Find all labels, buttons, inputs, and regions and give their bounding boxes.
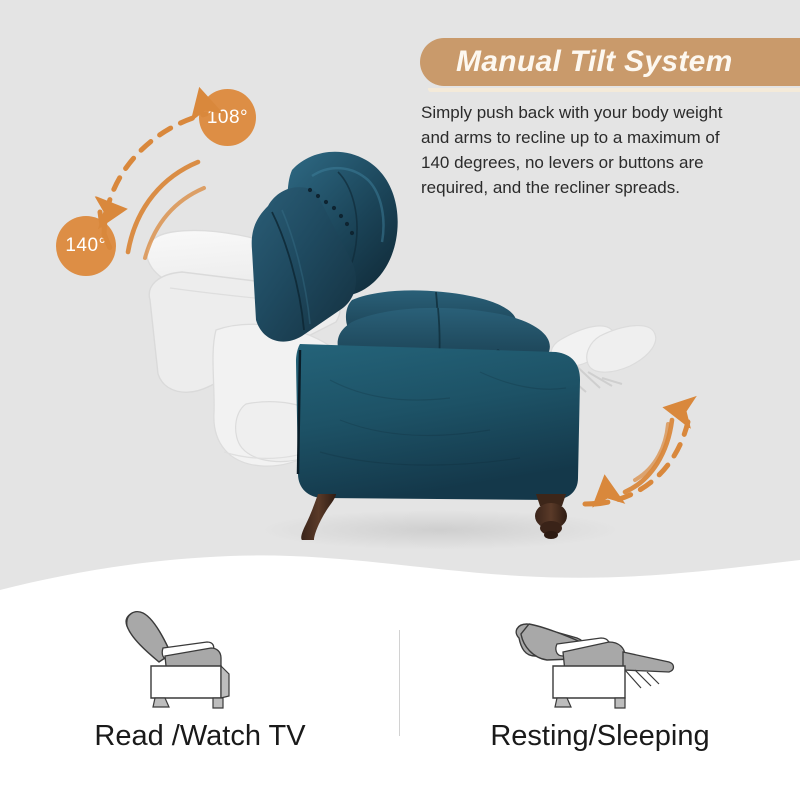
chair-leg-back xyxy=(301,494,336,540)
feature-label-resting: Resting/Sleeping xyxy=(490,720,709,753)
ghost-reclined-chair xyxy=(146,230,350,466)
ghost-seam xyxy=(224,448,318,458)
ghost-legrest xyxy=(236,402,331,462)
chair-headrest-bolster xyxy=(288,152,398,296)
nailhead-trim-arm xyxy=(496,350,562,369)
ghost-seat-body xyxy=(213,324,351,466)
chair-armrest xyxy=(338,308,550,378)
angle-badge-108: 108° xyxy=(199,89,256,146)
reclined-recliner-icon xyxy=(485,604,715,714)
feature-divider xyxy=(399,630,400,736)
feature-resting-sleeping: Resting/Sleeping xyxy=(400,590,800,800)
backrest-seam xyxy=(272,212,304,330)
feature-label-read: Read /Watch TV xyxy=(94,720,305,753)
infographic-root: Manual Tilt System Simply push back with… xyxy=(0,0,800,800)
upright-recliner-icon xyxy=(85,604,315,714)
backrest-highlight xyxy=(282,210,310,324)
headrest-highlight xyxy=(312,168,383,242)
ghost-footrest-linkage xyxy=(556,362,622,392)
floor-shadow xyxy=(260,510,620,550)
feature-row: Read /Watch TV Resting/Sl xyxy=(0,590,800,800)
nailhead-trim-back xyxy=(308,188,354,235)
background-panel xyxy=(0,0,800,620)
footrest-extend-arc-arrow xyxy=(585,412,690,504)
ghost-footrest-extension xyxy=(551,326,656,392)
header-banner: Manual Tilt System xyxy=(420,38,800,86)
ghost-headrest xyxy=(146,230,333,308)
seat-cushion-seam xyxy=(436,292,438,346)
armrest-seam xyxy=(438,308,440,376)
feature-read-watch-tv: Read /Watch TV xyxy=(0,590,400,800)
chair-base-body xyxy=(296,344,580,500)
banner-underline xyxy=(428,88,800,92)
ghost-footrest-pad-outer xyxy=(587,326,656,373)
headrest-seam xyxy=(336,172,357,290)
ghost-seam xyxy=(170,288,322,304)
chair-seat-cushion-rear xyxy=(346,290,517,348)
chair-backrest xyxy=(252,187,356,341)
page-title: Manual Tilt System xyxy=(456,45,733,79)
ghost-footrest-pad-inner xyxy=(551,326,614,367)
angle-badge-140: 140° xyxy=(56,216,116,276)
ghost-backrest xyxy=(149,272,340,392)
base-left-edge xyxy=(298,350,300,474)
recline-back-arc-arrow xyxy=(100,114,206,258)
base-texture xyxy=(320,372,566,465)
chair-leg-front xyxy=(535,494,567,539)
description-text: Simply push back with your body weight a… xyxy=(421,100,751,200)
main-recliner-chair xyxy=(252,152,580,540)
